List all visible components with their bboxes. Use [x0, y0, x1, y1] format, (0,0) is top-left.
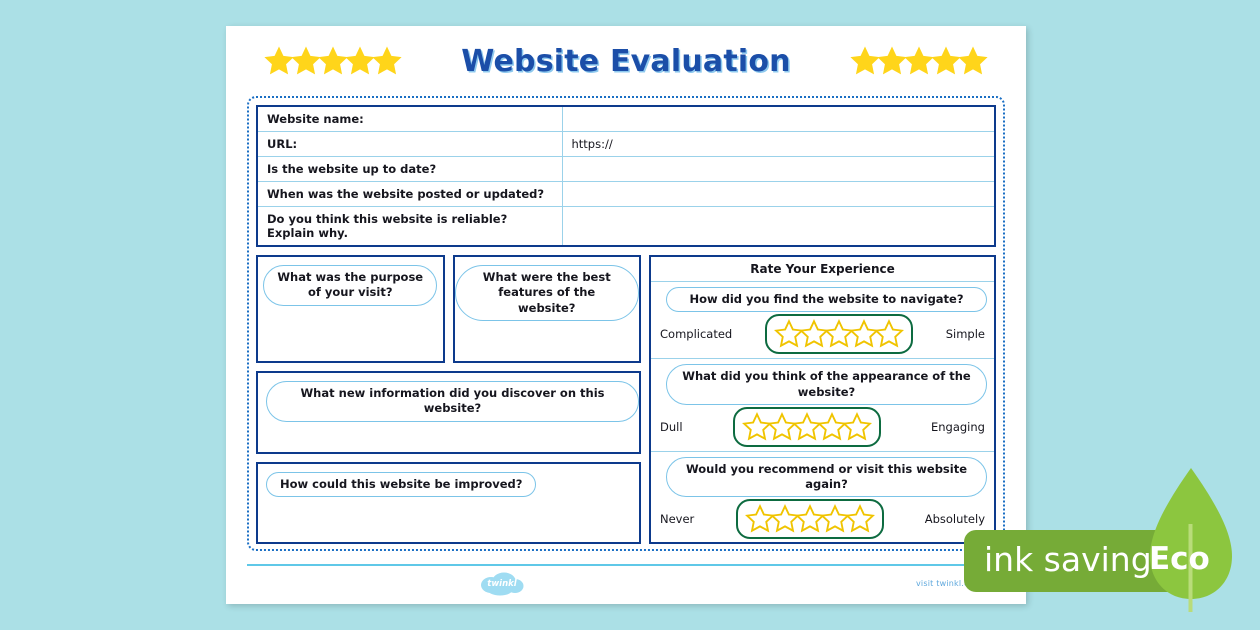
- rating-left-label: Never: [660, 512, 694, 526]
- page-header: Website Evaluation: [226, 26, 1026, 96]
- star-rating-recommend[interactable]: [736, 499, 884, 539]
- table-answer-cell[interactable]: https://: [562, 132, 995, 157]
- star-rating-appearance[interactable]: [733, 407, 881, 447]
- worksheet-page: Website Evaluation Website name: URL: ht…: [226, 26, 1026, 604]
- star-outline-icon[interactable]: [874, 319, 904, 349]
- rating-question-navigate: How did you find the website to navigate…: [666, 287, 987, 312]
- question-label-line2: features of the website?: [498, 285, 595, 314]
- rating-block-appearance: What did you think of the appearance of …: [651, 359, 994, 452]
- table-answer-cell[interactable]: [562, 157, 995, 182]
- rating-right-label: Engaging: [931, 420, 985, 434]
- table-answer-cell[interactable]: [562, 106, 995, 132]
- rating-block-recommend: Would you recommend or visit this websit…: [651, 452, 994, 544]
- rating-right-label: Absolutely: [925, 512, 985, 526]
- rating-left-label: Dull: [660, 420, 683, 434]
- rating-scale-recommend: Never Absolutely: [658, 499, 987, 539]
- table-row: URL: https://: [257, 132, 995, 157]
- twinkl-logo[interactable]: twinkl: [479, 570, 525, 596]
- rating-left-label: Complicated: [660, 327, 732, 341]
- question-label-best-features: What were the best features of the websi…: [455, 265, 640, 321]
- question-label-improvement: How could this website be improved?: [266, 472, 536, 497]
- svg-text:twinkl: twinkl: [487, 579, 518, 589]
- rating-scale-appearance: Dull Engaging: [658, 407, 987, 447]
- table-row: Website name:: [257, 106, 995, 132]
- rating-question-appearance: What did you think of the appearance of …: [666, 364, 987, 405]
- star-outline-icon[interactable]: [842, 412, 872, 442]
- eco-eco-text: Eco: [1149, 541, 1210, 577]
- question-box-purpose[interactable]: What was the purpose of your visit?: [256, 255, 445, 363]
- table-question-cell: URL:: [257, 132, 562, 157]
- website-info-table: Website name: URL: https:// Is the websi…: [256, 105, 996, 247]
- question-label-line1: What was the purpose: [277, 270, 423, 284]
- rating-panel-title: Rate Your Experience: [651, 257, 994, 282]
- leaf-icon: [1148, 466, 1234, 614]
- question-box-best-features[interactable]: What were the best features of the websi…: [453, 255, 642, 363]
- star-filled-icon: [956, 44, 990, 78]
- header-stars-left: [262, 44, 404, 78]
- star-outline-icon[interactable]: [845, 504, 875, 534]
- table-question-cell: Website name:: [257, 106, 562, 132]
- header-stars-right: [848, 44, 990, 78]
- rating-block-navigate: How did you find the website to navigate…: [651, 282, 994, 359]
- lower-section: What was the purpose of your visit? What…: [256, 255, 996, 544]
- question-label-line2: of your visit?: [308, 285, 393, 299]
- rate-your-experience-panel: Rate Your Experience How did you find th…: [649, 255, 996, 544]
- question-box-improvement[interactable]: How could this website be improved?: [256, 462, 641, 545]
- table-question-cell: When was the website posted or updated?: [257, 182, 562, 207]
- eco-ink-saving-text: ink saving: [984, 540, 1152, 579]
- question-label-purpose: What was the purpose of your visit?: [263, 265, 437, 306]
- rating-right-label: Simple: [946, 327, 985, 341]
- table-row: When was the website posted or updated?: [257, 182, 995, 207]
- table-answer-cell[interactable]: [562, 207, 995, 247]
- question-label-line1: What were the best: [483, 270, 611, 284]
- question-box-new-information[interactable]: What new information did you discover on…: [256, 371, 641, 454]
- table-question-cell: Do you think this website is reliable? E…: [257, 207, 562, 247]
- star-filled-icon: [370, 44, 404, 78]
- table-row: Is the website up to date?: [257, 157, 995, 182]
- rating-scale-navigate: Complicated Simple: [658, 314, 987, 354]
- table-question-cell: Is the website up to date?: [257, 157, 562, 182]
- dotted-content-frame: Website name: URL: https:// Is the websi…: [247, 96, 1005, 551]
- question-boxes-column: What was the purpose of your visit? What…: [256, 255, 641, 544]
- star-rating-navigate[interactable]: [765, 314, 913, 354]
- table-answer-cell[interactable]: [562, 182, 995, 207]
- table-row: Do you think this website is reliable? E…: [257, 207, 995, 247]
- rating-question-recommend: Would you recommend or visit this websit…: [666, 457, 987, 498]
- question-label-new-information: What new information did you discover on…: [266, 381, 639, 422]
- question-boxes-top-row: What was the purpose of your visit? What…: [256, 255, 641, 363]
- page-title: Website Evaluation: [461, 44, 790, 79]
- footer-divider: [247, 564, 1005, 566]
